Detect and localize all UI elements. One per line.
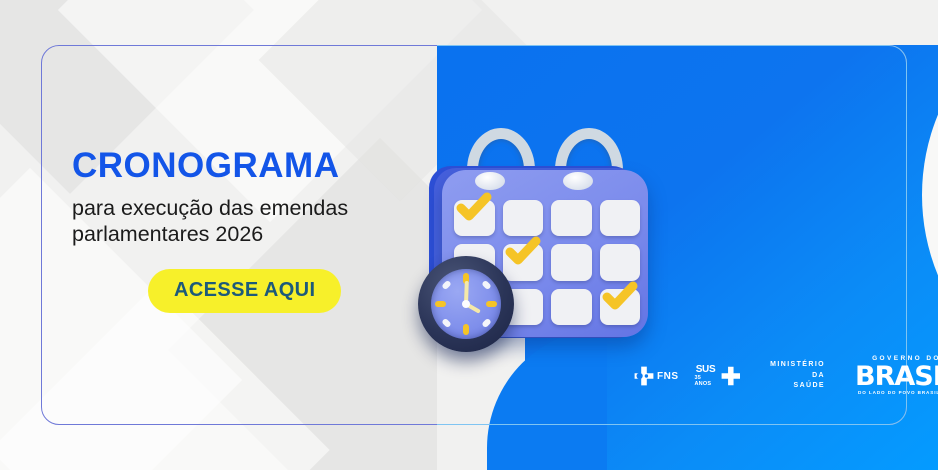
ministry-line-1: MINISTÉRIO DA: [770, 360, 825, 382]
check-icon: [602, 281, 638, 311]
sus-cross-icon: [721, 365, 741, 387]
brasil-wordmark: BRASIL: [855, 363, 938, 390]
governo-do-brasil-logo: GOVERNO DO BRASIL DO LADO DO POVO BRASIL…: [855, 356, 938, 396]
check-icon: [456, 192, 492, 222]
ministry-line-2: SAÚDE: [770, 381, 825, 392]
subtitle-line-2: parlamentares 2026: [72, 222, 263, 246]
clock-marker-9: [435, 301, 446, 307]
calendar-clock-illustration: [404, 110, 694, 370]
clock-marker-7-30: [441, 318, 452, 329]
calendar-day-cell: [600, 244, 641, 280]
clock-marker-6: [463, 324, 469, 335]
page-title: CRONOGRAMA: [72, 148, 412, 183]
subtitle: para execução das emendas parlamentares …: [72, 195, 412, 247]
check-icon: [505, 236, 541, 266]
white-circle-cutout: [922, 45, 938, 405]
calendar-ring-base-left: [475, 172, 505, 190]
clock-icon: [418, 256, 514, 352]
clock-marker-3: [486, 301, 497, 307]
promo-banner: CRONOGRAMA para execução das emendas par…: [0, 0, 938, 470]
calendar-day-cell: [551, 244, 592, 280]
subtitle-line-1: para execução das emendas: [72, 196, 348, 220]
sus-logo: SUS 35 ANOS: [695, 365, 741, 387]
ministerio-da-saude-logo: MINISTÉRIO DA SAÚDE: [770, 360, 825, 393]
clock-marker-4-30: [481, 318, 492, 329]
clock-face: [431, 269, 501, 339]
fns-logo: FNS: [634, 366, 679, 386]
clock-marker-10-30: [441, 280, 452, 291]
calendar-ring-base-right: [563, 172, 593, 190]
calendar-day-cell: [454, 200, 495, 236]
logo-strip: FNS SUS 35 ANOS MINISTÉRIO DA SAÚDE GOVE…: [634, 356, 938, 396]
calendar-day-cell: [600, 200, 641, 236]
fns-logo-text: FNS: [657, 371, 679, 382]
sus-logo-wordmark: SUS 35 ANOS: [695, 365, 717, 387]
calendar-day-cell: [551, 200, 592, 236]
copy-block: CRONOGRAMA para execução das emendas par…: [72, 148, 412, 313]
calendar-day-cell: [503, 244, 544, 280]
sus-logo-top-text: SUS: [696, 365, 716, 375]
sus-logo-bottom-text: 35 ANOS: [695, 376, 717, 387]
clock-marker-1-30: [481, 280, 492, 291]
clock-center-hub: [462, 300, 470, 308]
governo-tagline: DO LADO DO POVO BRASILEIRO: [858, 391, 938, 396]
calendar-day-cell: [503, 200, 544, 236]
calendar-day-cell: [600, 289, 641, 325]
fns-cross-icon: [634, 366, 654, 386]
calendar-day-cell: [551, 289, 592, 325]
acesse-aqui-button[interactable]: ACESSE AQUI: [148, 269, 341, 313]
